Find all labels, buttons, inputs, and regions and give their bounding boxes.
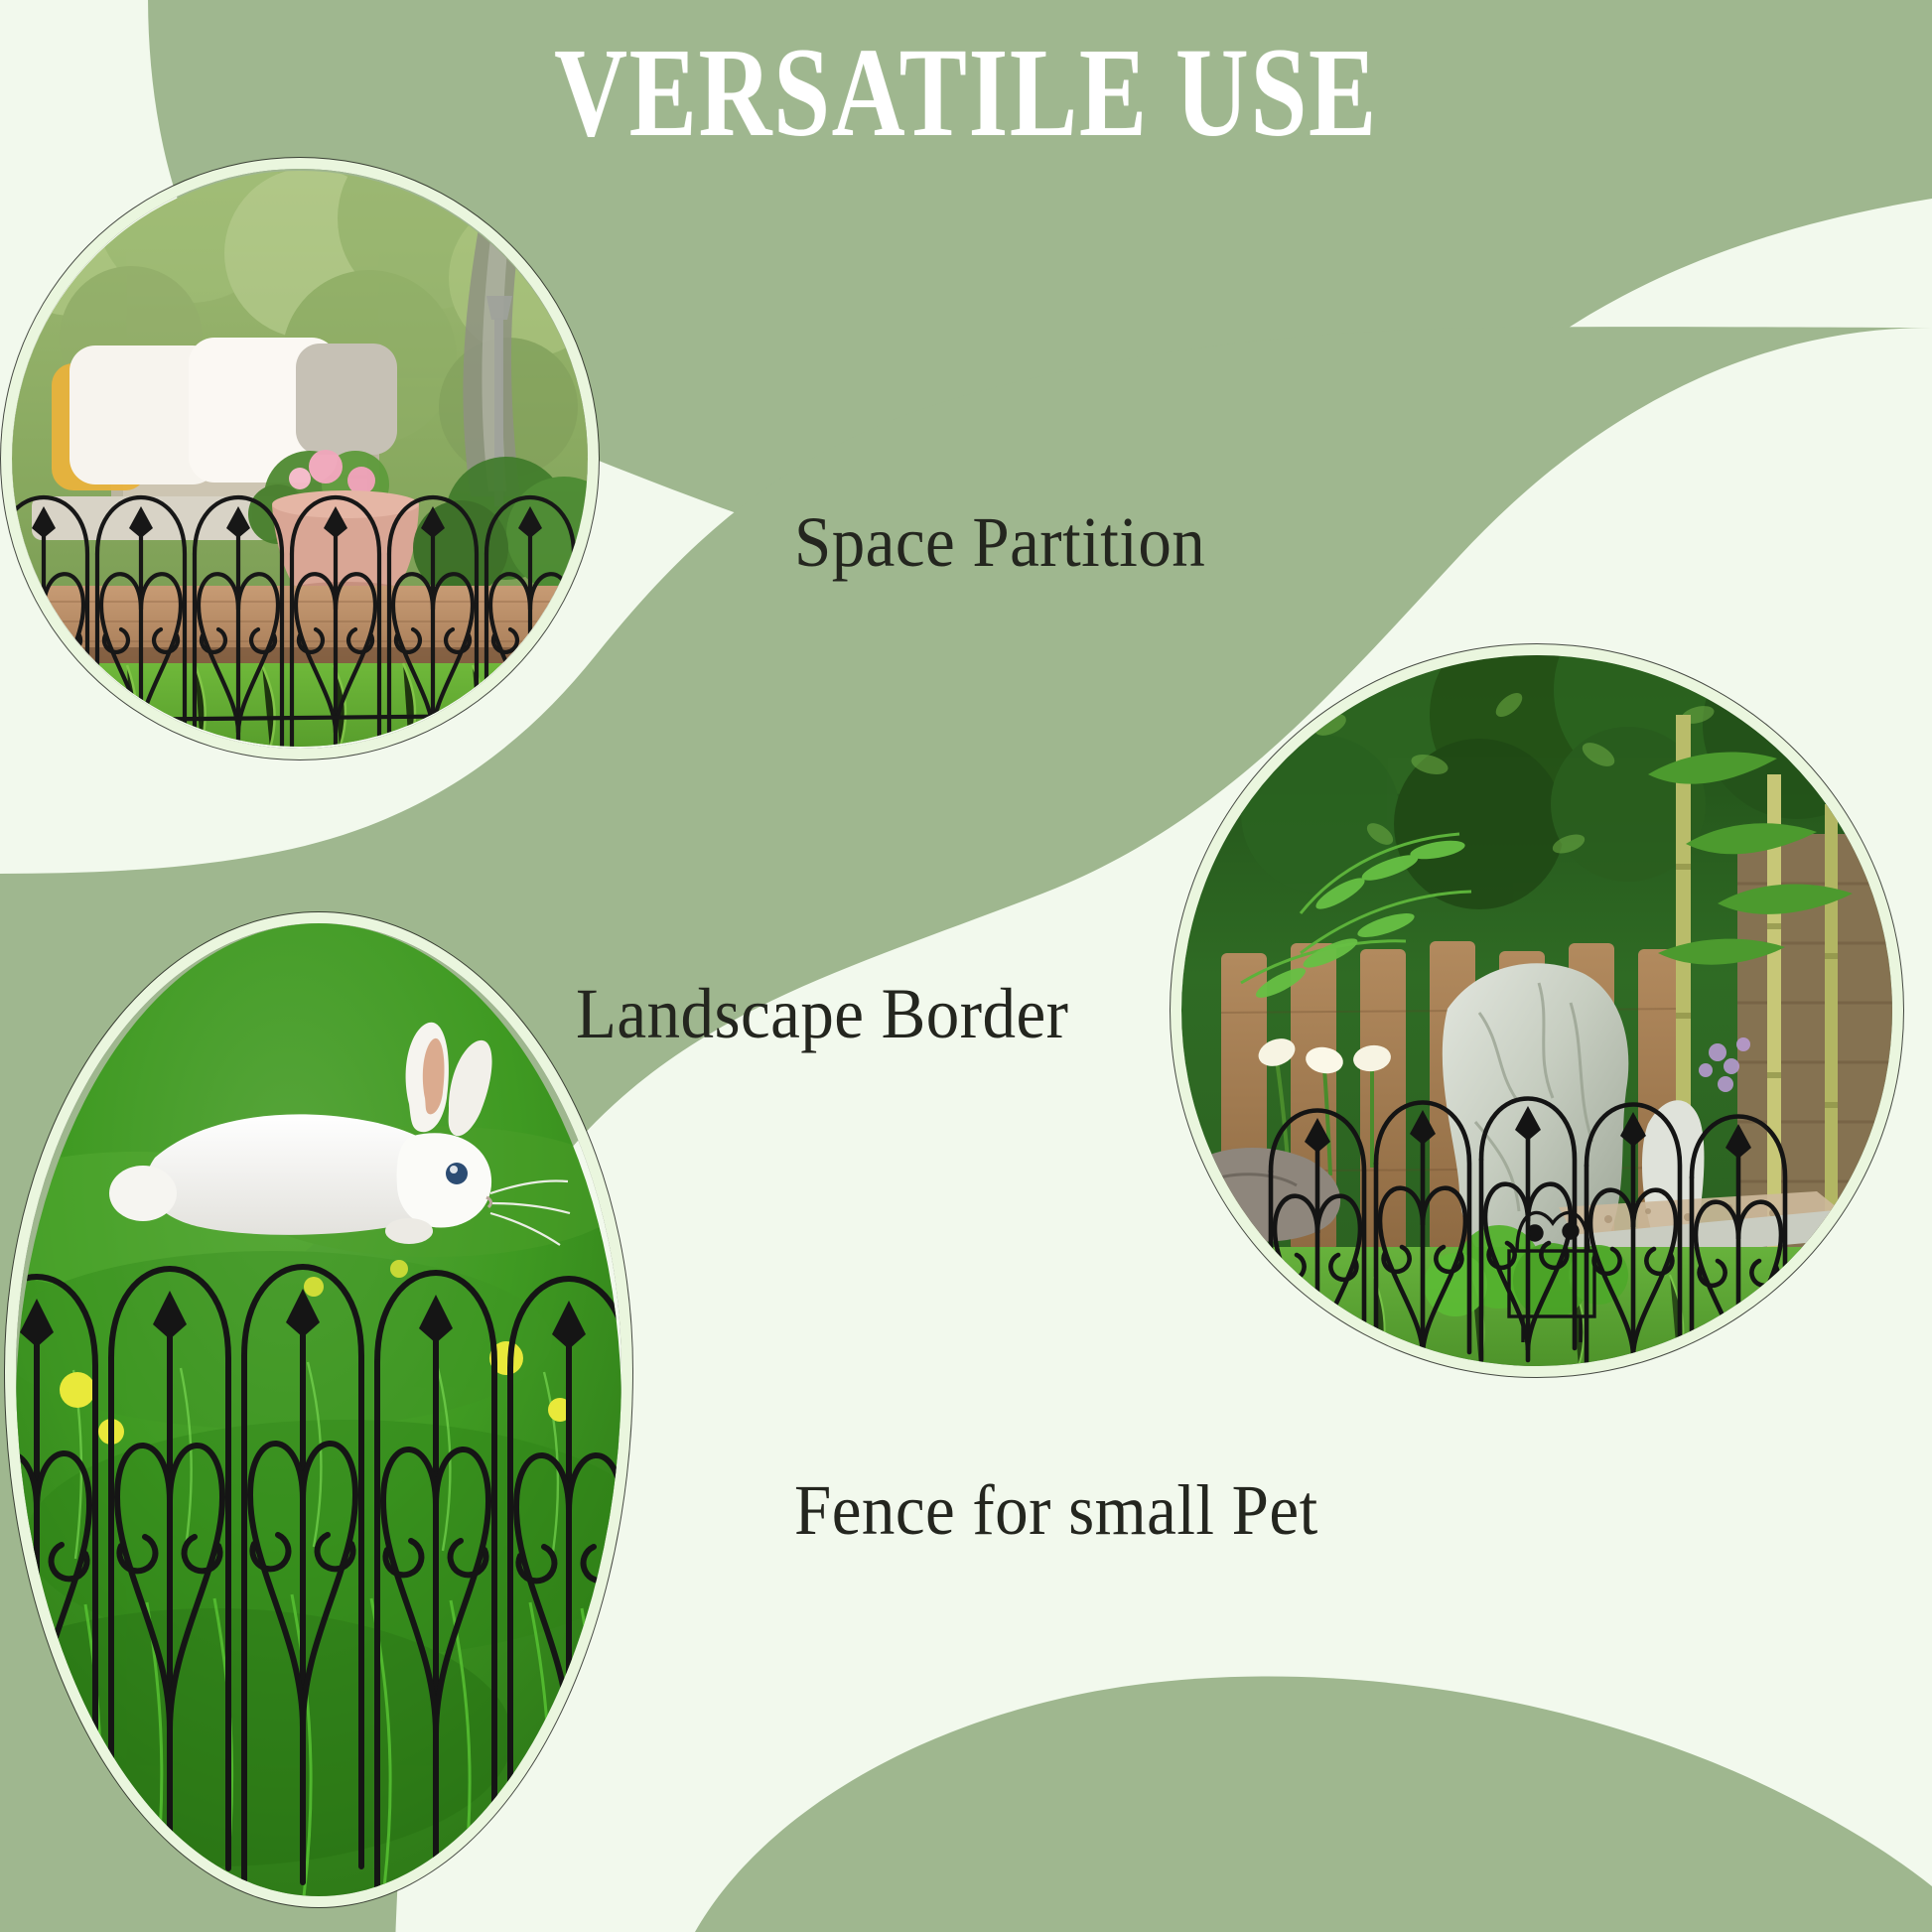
infographic-canvas: VERSATILE USE [0,0,1932,1932]
photo-space-partition [12,169,588,749]
feature-label-landscape-border: Landscape Border [576,973,1068,1055]
feature-label-space-partition: Space Partition [794,501,1205,584]
photo-landscape-border [1181,655,1892,1366]
page-title: VERSATILE USE [194,28,1739,158]
feature-label-fence-for-small-pet: Fence for small Pet [794,1469,1318,1552]
